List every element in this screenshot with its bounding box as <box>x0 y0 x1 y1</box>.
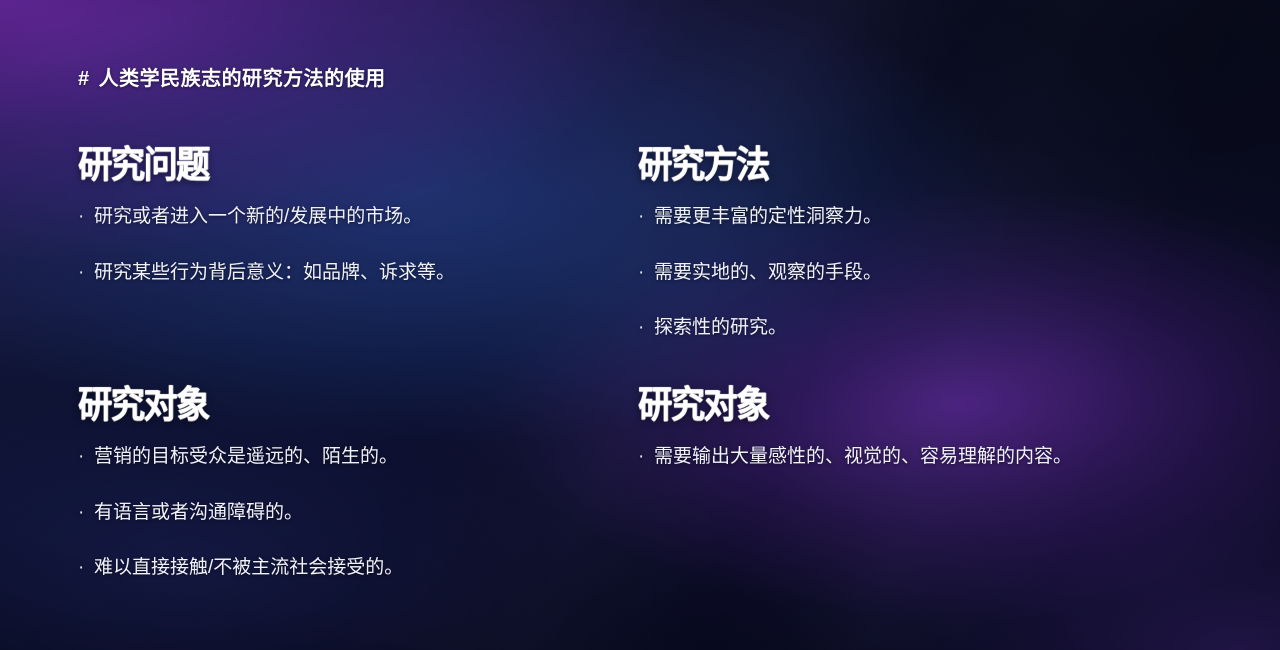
list-item: ·难以直接接触/不被主流社会接受的。 <box>78 554 618 582</box>
section-heading-research-methods: 研究方法 <box>638 146 1190 183</box>
bullet-dot-icon: · <box>78 203 94 231</box>
list-item: ·有语言或者沟通障碍的。 <box>78 499 618 527</box>
bullet-dot-icon: · <box>78 259 94 287</box>
bullet-list-research-methods: ·需要更丰富的定性洞察力。·需要实地的、观察的手段。·探索性的研究。 <box>638 203 1238 342</box>
section-research-questions: 研究问题·研究或者进入一个新的/发展中的市场。·研究某些行为背后意义：如品牌、诉… <box>78 146 618 286</box>
section-research-subjects-right: 研究对象·需要输出大量感性的、视觉的、容易理解的内容。 <box>638 386 1238 471</box>
list-item: ·研究某些行为背后意义：如品牌、诉求等。 <box>78 259 618 287</box>
bullet-text: 需要输出大量感性的、视觉的、容易理解的内容。 <box>654 443 1238 471</box>
bullet-text: 难以直接接触/不被主流社会接受的。 <box>94 554 618 582</box>
bullet-text: 需要更丰富的定性洞察力。 <box>654 203 1238 231</box>
bullet-dot-icon: · <box>78 499 94 527</box>
list-item: ·需要输出大量感性的、视觉的、容易理解的内容。 <box>638 443 1238 471</box>
list-item: ·营销的目标受众是遥远的、陌生的。 <box>78 443 618 471</box>
bullet-text: 有语言或者沟通障碍的。 <box>94 499 618 527</box>
bullet-list-research-questions: ·研究或者进入一个新的/发展中的市场。·研究某些行为背后意义：如品牌、诉求等。 <box>78 203 618 286</box>
section-research-methods: 研究方法·需要更丰富的定性洞察力。·需要实地的、观察的手段。·探索性的研究。 <box>638 146 1238 342</box>
bullet-text: 营销的目标受众是遥远的、陌生的。 <box>94 443 618 471</box>
slide-content: #人类学民族志的研究方法的使用 研究问题·研究或者进入一个新的/发展中的市场。·… <box>0 0 1280 650</box>
bullet-text: 研究某些行为背后意义：如品牌、诉求等。 <box>94 259 618 287</box>
bullet-dot-icon: · <box>638 203 654 231</box>
bullet-dot-icon: · <box>638 314 654 342</box>
bullet-dot-icon: · <box>78 443 94 471</box>
sections-grid: 研究问题·研究或者进入一个新的/发展中的市场。·研究某些行为背后意义：如品牌、诉… <box>0 0 1280 650</box>
bullet-dot-icon: · <box>638 259 654 287</box>
list-item: ·需要实地的、观察的手段。 <box>638 259 1238 287</box>
section-research-subjects-left: 研究对象·营销的目标受众是遥远的、陌生的。·有语言或者沟通障碍的。·难以直接接触… <box>78 386 618 582</box>
bullet-list-research-subjects-right: ·需要输出大量感性的、视觉的、容易理解的内容。 <box>638 443 1238 471</box>
section-heading-research-subjects-right: 研究对象 <box>638 386 1190 423</box>
bullet-text: 研究或者进入一个新的/发展中的市场。 <box>94 203 618 231</box>
list-item: ·研究或者进入一个新的/发展中的市场。 <box>78 203 618 231</box>
bullet-text: 探索性的研究。 <box>654 314 1238 342</box>
list-item: ·需要更丰富的定性洞察力。 <box>638 203 1238 231</box>
bullet-dot-icon: · <box>638 443 654 471</box>
section-heading-research-subjects-left: 研究对象 <box>78 386 575 423</box>
bullet-text: 需要实地的、观察的手段。 <box>654 259 1238 287</box>
section-heading-research-questions: 研究问题 <box>78 146 575 183</box>
bullet-list-research-subjects-left: ·营销的目标受众是遥远的、陌生的。·有语言或者沟通障碍的。·难以直接接触/不被主… <box>78 443 618 582</box>
bullet-dot-icon: · <box>78 554 94 582</box>
list-item: ·探索性的研究。 <box>638 314 1238 342</box>
